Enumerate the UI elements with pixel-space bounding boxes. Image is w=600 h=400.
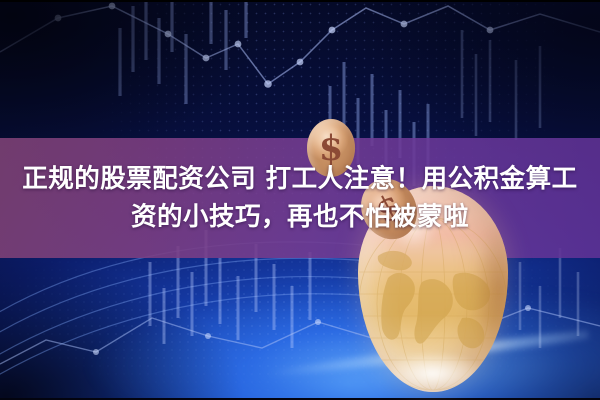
headline-line-2: 资的小技巧，再也不怕被蒙啦 [131, 199, 469, 235]
promo-banner-image: $ $ 正规的股票配资公司 打工人注意！用公积金算工 资的小技巧，再也不怕被蒙啦 [0, 0, 600, 400]
top-edge-bar [0, 0, 600, 2]
headline-line-1: 正规的股票配资公司 打工人注意！用公积金算工 [22, 161, 577, 197]
headline-block: 正规的股票配资公司 打工人注意！用公积金算工 资的小技巧，再也不怕被蒙啦 [0, 138, 600, 258]
